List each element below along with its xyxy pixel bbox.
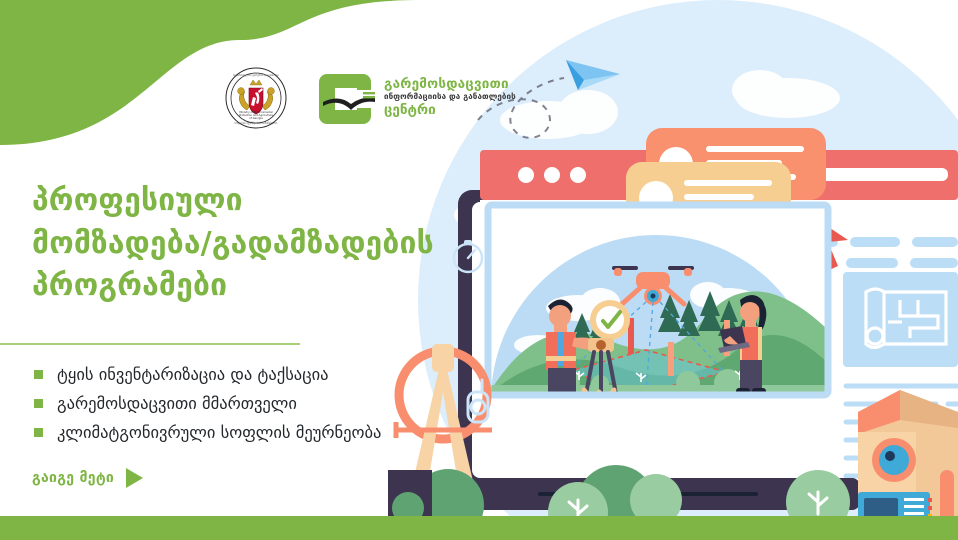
learn-more-button[interactable]: გაიგე მეტი	[32, 468, 143, 488]
slide-canvas: საქართველოს გარემოს დაცვისა და სოფლის მე…	[0, 0, 958, 540]
footer-green-bar	[0, 516, 958, 540]
list-item[interactable]: გარემოსდაცვითი მმართველი	[34, 389, 464, 418]
header-logo-bar: საქართველოს გარემოს დაცვისა და სოფლის მე…	[225, 58, 516, 138]
title-divider	[0, 343, 300, 345]
svg-text:of Georgia: of Georgia	[249, 116, 263, 120]
eiec-brand-logo: გარემოსდაცვითი ინფორმაციისა და განათლები…	[319, 72, 516, 124]
svg-text:საქართველოს გარემოს დაცვისა და: საქართველოს გარემოს დაცვისა და	[233, 73, 279, 77]
survey-station-building	[858, 390, 958, 534]
list-item-label: ტყის ინვენტარიზაცია და ტაქსაცია	[57, 365, 329, 384]
brand-line-1: გარემოსდაცვითი	[384, 77, 516, 92]
page-title: პროფესიული მომზადება/გადამზადების პროგრა…	[32, 180, 462, 308]
title-line-2: მომზადება/გადამზადების	[32, 223, 462, 266]
title-line-3: პროგრამები	[32, 265, 462, 308]
eiec-logo-mark	[319, 72, 375, 124]
list-item-label: გარემოსდაცვითი მმართველი	[57, 394, 297, 413]
list-item[interactable]: კლიმატგონივრული სოფლის მეურნეობა	[34, 418, 464, 447]
svg-text:სოფლის მეურნეობის სამინისტრო: სოფლის მეურნეობის სამინისტრო	[235, 121, 278, 125]
bullet-square-icon	[34, 428, 43, 437]
list-item-label: კლიმატგონივრული სოფლის მეურნეობა	[57, 423, 381, 442]
left-content-column: პროფესიული მომზადება/გადამზადების პროგრა…	[0, 160, 470, 500]
play-triangle-icon	[126, 468, 143, 488]
program-list: ტყის ინვენტარიზაცია და ტაქსაცია გარემოსდ…	[34, 360, 464, 447]
title-line-1: პროფესიული	[32, 180, 462, 223]
georgia-ministry-emblem: საქართველოს გარემოს დაცვისა და სოფლის მე…	[225, 67, 287, 129]
bullet-square-icon	[34, 370, 43, 379]
learn-more-label: გაიგე მეტი	[32, 470, 114, 486]
list-item[interactable]: ტყის ინვენტარიზაცია და ტაქსაცია	[34, 360, 464, 389]
brand-line-3: ცენტრი	[384, 103, 516, 119]
bullet-square-icon	[34, 399, 43, 408]
